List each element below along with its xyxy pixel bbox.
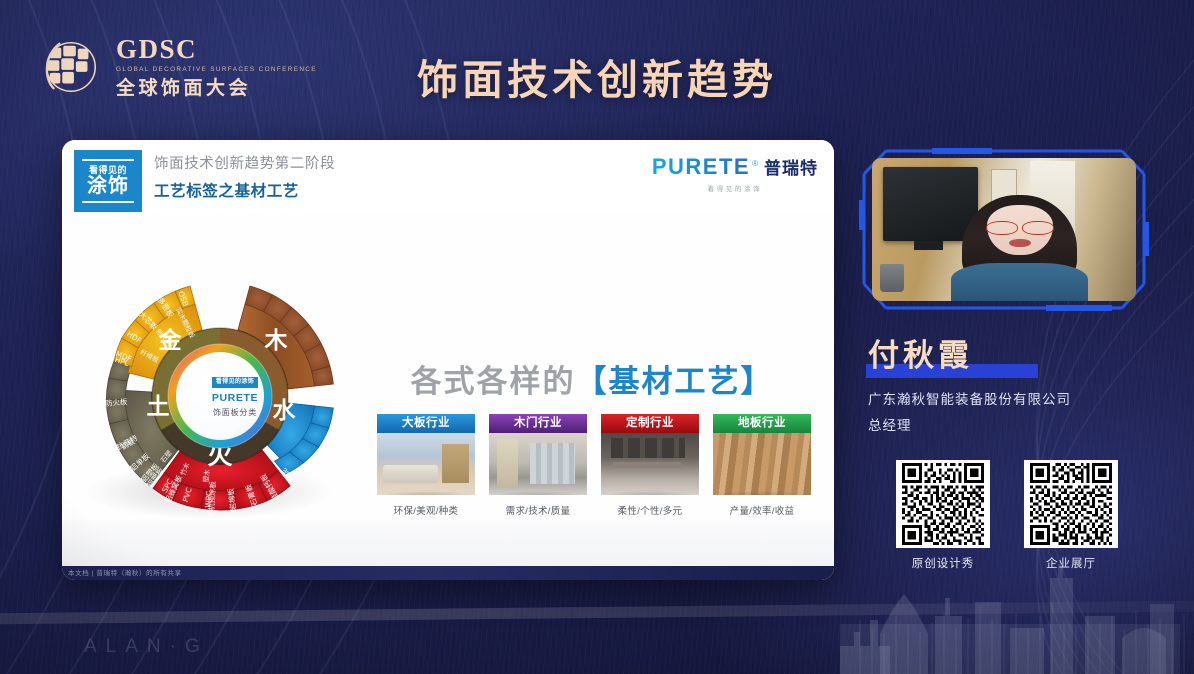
- presentation-stage: GDSC GLOBAL DECORATIVE SURFACES CONFEREN…: [0, 0, 1194, 674]
- vignette-overlay: [0, 0, 1194, 674]
- speaker-name: 付秋霞: [868, 330, 973, 375]
